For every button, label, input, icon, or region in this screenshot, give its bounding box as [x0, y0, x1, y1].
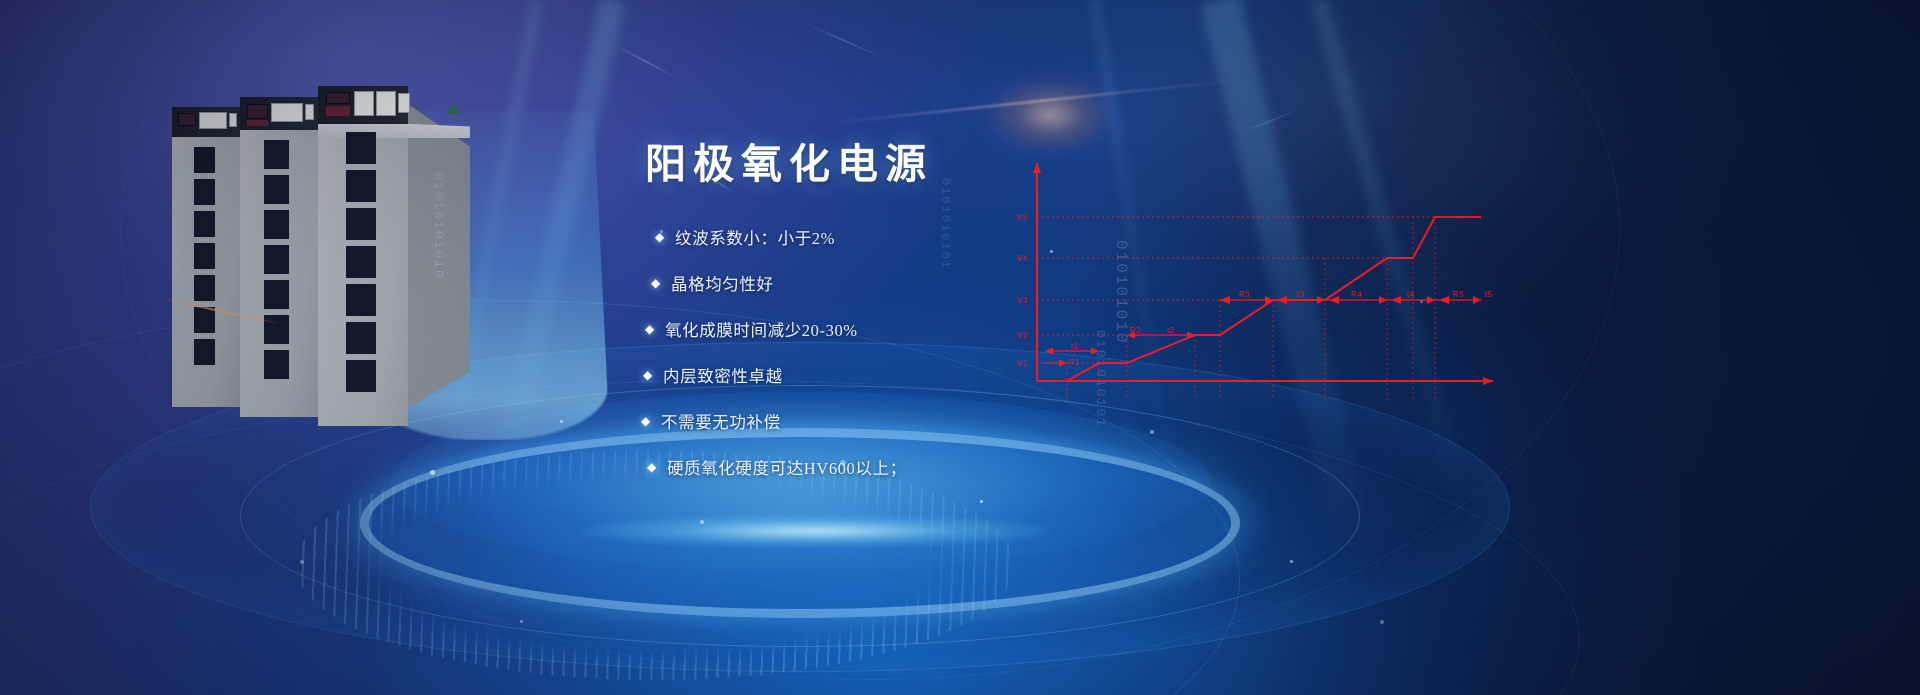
diamond-bullet-icon: ◆ — [643, 369, 663, 381]
list-item-label: 晶格均匀性好 — [671, 271, 774, 295]
cabinet-middle-vent-3 — [264, 210, 289, 239]
cabinet-left-display — [178, 113, 196, 126]
cabinet-right-vent-5 — [346, 284, 376, 316]
cabinet-middle-vent-2 — [264, 175, 289, 204]
chart-ramp-r3: R3 — [1239, 290, 1250, 299]
particle — [560, 420, 563, 423]
list-item-label: 不需要无功补偿 — [661, 409, 781, 433]
cabinet-middle-display — [247, 104, 268, 119]
cabinet-right-vent-2 — [346, 170, 376, 202]
cabinet-right-side — [408, 104, 470, 408]
cabinet-right-vent-6 — [346, 322, 376, 354]
cabinet-left-vent-1 — [194, 147, 215, 173]
particle — [980, 500, 983, 503]
warning-triangle-icon — [446, 103, 460, 114]
cabinet-right-vent-3 — [346, 208, 376, 240]
particle — [520, 620, 523, 623]
diamond-bullet-icon: ◆ — [647, 461, 667, 473]
banner-root: 01010101010 0101010101 010101010 0101010… — [0, 0, 1920, 695]
cabinet-left-vent-4 — [194, 243, 215, 269]
diamond-bullet-icon: ◆ — [641, 415, 661, 427]
cabinet-middle-vent-1 — [264, 140, 289, 169]
chart-hold-t4: t4 — [1407, 290, 1415, 299]
cabinet-right-meter — [398, 93, 410, 113]
cabinet-right-display — [326, 92, 350, 104]
particle — [430, 470, 435, 475]
list-item: ◆ 不需要无功补偿 — [641, 408, 1205, 434]
particle-streak — [803, 22, 886, 60]
list-item-label: 纹波系数小：小于2% — [675, 225, 835, 249]
cabinet-middle-meter — [305, 104, 314, 120]
cabinet-middle-vent-5 — [264, 280, 289, 309]
particle — [1380, 620, 1384, 624]
podium-shine — [580, 515, 1050, 547]
list-item: ◆ 硬质氧化硬度可达HV600以上； — [647, 454, 1205, 480]
list-item: ◆ 内层致密性卓越 — [643, 362, 1205, 388]
chart-ramp-r4: R4 — [1351, 290, 1362, 299]
cabinet-left-vent-2 — [194, 179, 215, 205]
cabinet-middle-label-panel — [271, 103, 303, 122]
cabinet-right-label-panel-1 — [354, 91, 374, 116]
diamond-bullet-icon: ◆ — [645, 323, 665, 335]
cabinet-left-vent-7 — [194, 339, 215, 365]
particle-streak — [614, 44, 677, 79]
equipment-cabinets — [168, 80, 488, 460]
cabinet-left-vent-6 — [194, 307, 215, 333]
cabinet-middle-vent-7 — [264, 350, 289, 379]
diamond-bullet-icon: ◆ — [651, 277, 671, 289]
particle-streak — [1242, 109, 1298, 133]
list-item: ◆ 晶格均匀性好 — [651, 270, 1205, 296]
list-item-label: 氧化成膜时间减少20-30% — [665, 317, 858, 341]
cabinet-middle-vent-4 — [264, 245, 289, 274]
cabinet-left-vent-3 — [194, 211, 215, 237]
list-item-label: 内层致密性卓越 — [663, 363, 783, 387]
particle — [700, 520, 704, 524]
cabinet-left-label-panel — [199, 112, 227, 129]
cabinet-right-vent-7 — [346, 360, 376, 392]
cabinet-right-vent-4 — [346, 246, 376, 278]
cabinet-left-vent-5 — [194, 275, 215, 301]
particle — [300, 560, 304, 564]
light-beam-1 — [474, 0, 625, 549]
content-block: 阳极氧化电源 ◆ 纹波系数小：小于2% ◆ 晶格均匀性好 ◆ 氧化成膜时间减少2… — [645, 140, 1205, 500]
diamond-bullet-icon: ◆ — [655, 231, 675, 243]
list-item-label: 硬质氧化硬度可达HV600以上； — [667, 455, 907, 479]
chart-hold-t5: t5 — [1485, 290, 1493, 299]
cabinet-right-keypad — [326, 106, 350, 116]
list-item: ◆ 氧化成膜时间减少20-30% — [645, 316, 1205, 342]
cabinet-middle-keypad — [247, 120, 268, 126]
lens-streak — [831, 78, 1249, 124]
cabinet-left-meter — [229, 113, 237, 127]
cabinet-middle-vent-6 — [264, 315, 289, 344]
chart-hold-t3: t3 — [1297, 290, 1305, 299]
chart-x-arrow — [1483, 377, 1493, 385]
page-title: 阳极氧化电源 — [645, 140, 1205, 188]
cabinet-right-vent-1 — [346, 132, 376, 164]
cabinet-right-label-panel-2 — [376, 91, 396, 116]
chart-ramp-r5: R5 — [1453, 290, 1464, 299]
list-item: ◆ 纹波系数小：小于2% — [655, 224, 1205, 250]
particle — [1290, 560, 1293, 563]
feature-list: ◆ 纹波系数小：小于2% ◆ 晶格均匀性好 ◆ 氧化成膜时间减少20-30% ◆… — [645, 224, 1205, 480]
